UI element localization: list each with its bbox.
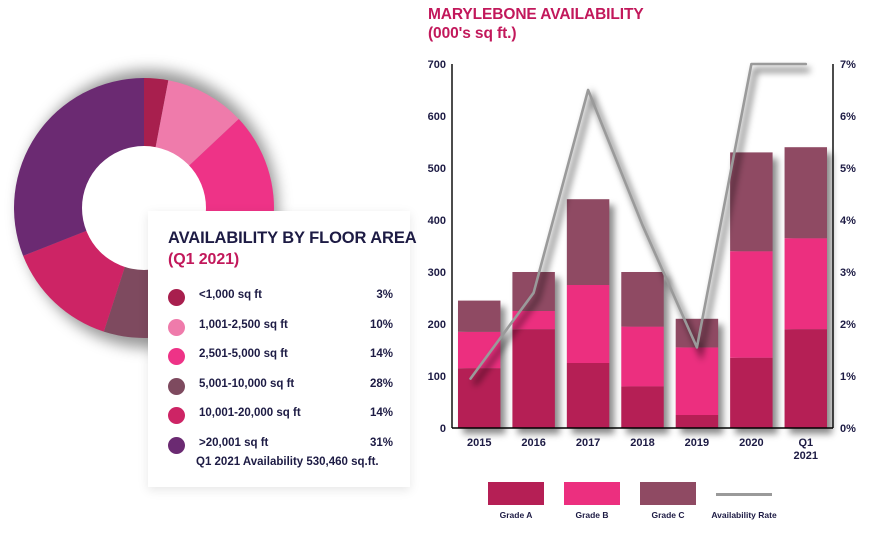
bar-segment[interactable]	[458, 332, 500, 368]
bar-segment[interactable]	[676, 415, 718, 428]
x-axis-tick-label: 2020	[739, 437, 763, 449]
x-axis-tick-label: Q1	[798, 437, 813, 449]
series-legend-item[interactable]: Grade C	[640, 482, 696, 505]
y-axis-left-tick-label: 0	[440, 423, 446, 435]
availability-by-floor-area-card: AVAILABILITY BY FLOOR AREA (Q1 2021) <1,…	[148, 211, 410, 487]
series-legend-item[interactable]: Grade B	[564, 482, 620, 505]
bar-segment[interactable]	[567, 285, 609, 363]
bar-segment[interactable]	[567, 363, 609, 428]
y-axis-right-tick-label: 6%	[840, 111, 856, 123]
legend-color-dot	[168, 378, 185, 395]
legend-line-marker	[716, 482, 772, 505]
x-axis-tick-label: 2021	[794, 450, 818, 462]
x-axis-tick-label: 2019	[685, 437, 709, 449]
legend-category-label: <1,000 sq ft	[199, 289, 262, 301]
legend-value-label: 28%	[370, 378, 393, 390]
infographic-canvas: AVAILABILITY BY FLOOR AREA (Q1 2021) <1,…	[0, 0, 869, 546]
bar-segment[interactable]	[785, 238, 827, 329]
legend-color-dot	[168, 437, 185, 454]
bar-chart-title: MARYLEBONE AVAILABILITY (000's sq ft.)	[428, 5, 644, 43]
series-legend-item[interactable]: Availability Rate	[716, 482, 772, 505]
donut-legend-item[interactable]: <1,000 sq ft3%	[168, 287, 393, 309]
y-axis-left-tick-label: 300	[428, 267, 446, 279]
donut-legend-item[interactable]: 2,501-5,000 sq ft14%	[168, 346, 393, 368]
legend-category-label: 1,001-2,500 sq ft	[199, 319, 288, 331]
donut-legend-item[interactable]: 5,001-10,000 sq ft28%	[168, 376, 393, 398]
legend-value-label: 3%	[376, 289, 393, 301]
marylebone-availability-chart-svg: 0100200300400500600700 0%1%2%3%4%5%6%7% …	[424, 52, 869, 472]
bar-segment[interactable]	[676, 347, 718, 415]
legend-value-label: 31%	[370, 437, 393, 449]
bar-segment[interactable]	[458, 301, 500, 332]
x-axis-tick-label: 2015	[467, 437, 491, 449]
legend-value-label: 14%	[370, 348, 393, 360]
y-axis-left-tick-label: 700	[428, 59, 446, 71]
y-axis-right-tick-labels: 0%1%2%3%4%5%6%7%	[840, 59, 856, 435]
bar-segment[interactable]	[785, 147, 827, 238]
legend-value-label: 14%	[370, 407, 393, 419]
bar-segment[interactable]	[730, 251, 772, 358]
legend-color-dot	[168, 407, 185, 424]
legend-category-label: 2,501-5,000 sq ft	[199, 348, 288, 360]
card-title: AVAILABILITY BY FLOOR AREA	[168, 229, 417, 248]
bar-segment[interactable]	[785, 329, 827, 428]
y-axis-right-tick-label: 7%	[840, 59, 856, 71]
bar-segment[interactable]	[567, 199, 609, 285]
legend-color-dot	[168, 289, 185, 306]
y-axis-right-tick-label: 0%	[840, 423, 856, 435]
x-axis-tick-label: 2017	[576, 437, 600, 449]
bar-segment[interactable]	[621, 327, 663, 387]
legend-category-label: 5,001-10,000 sq ft	[199, 378, 294, 390]
series-legend-item[interactable]: Grade A	[488, 482, 544, 505]
legend-category-label: 10,001-20,000 sq ft	[199, 407, 301, 419]
stacked-bars	[458, 147, 827, 428]
legend-value-label: 10%	[370, 319, 393, 331]
y-axis-left-tick-labels: 0100200300400500600700	[428, 59, 446, 435]
legend-swatch	[564, 482, 620, 505]
legend-category-label: >20,001 sq ft	[199, 437, 268, 449]
card-subtitle: (Q1 2021)	[168, 251, 239, 269]
legend-color-dot	[168, 348, 185, 365]
y-axis-right-tick-label: 4%	[840, 215, 856, 227]
y-axis-left-tick-label: 600	[428, 111, 446, 123]
legend-series-label: Grade C	[651, 510, 684, 520]
legend-series-label: Grade B	[575, 510, 608, 520]
legend-swatch	[640, 482, 696, 505]
x-axis-tick-labels: 201520162017201820192020Q12021	[467, 437, 818, 462]
x-axis-tick-label: 2016	[521, 437, 545, 449]
bar-segment[interactable]	[621, 386, 663, 428]
legend-series-label: Grade A	[500, 510, 533, 520]
bar-segment[interactable]	[512, 329, 554, 428]
y-axis-right-tick-label: 1%	[840, 371, 856, 383]
y-axis-left-tick-label: 100	[428, 371, 446, 383]
y-axis-right-tick-label: 3%	[840, 267, 856, 279]
donut-legend-item[interactable]: 10,001-20,000 sq ft14%	[168, 405, 393, 427]
y-axis-left-tick-label: 500	[428, 163, 446, 175]
bar-segment[interactable]	[730, 358, 772, 428]
y-axis-left-tick-label: 200	[428, 319, 446, 331]
donut-legend-item[interactable]: 1,001-2,500 sq ft10%	[168, 317, 393, 339]
legend-series-label: Availability Rate	[711, 510, 776, 520]
y-axis-right-tick-label: 5%	[840, 163, 856, 175]
y-axis-left-tick-label: 400	[428, 215, 446, 227]
legend-color-dot	[168, 319, 185, 336]
card-footnote: Q1 2021 Availability 530,460 sq.ft.	[196, 456, 379, 468]
legend-swatch	[488, 482, 544, 505]
series-legend: Grade AGrade BGrade CAvailability Rate	[488, 482, 788, 528]
bar-segment[interactable]	[621, 272, 663, 327]
donut-legend-item[interactable]: >20,001 sq ft31%	[168, 435, 393, 457]
y-axis-right-tick-label: 2%	[840, 319, 856, 331]
x-axis-tick-label: 2018	[630, 437, 654, 449]
